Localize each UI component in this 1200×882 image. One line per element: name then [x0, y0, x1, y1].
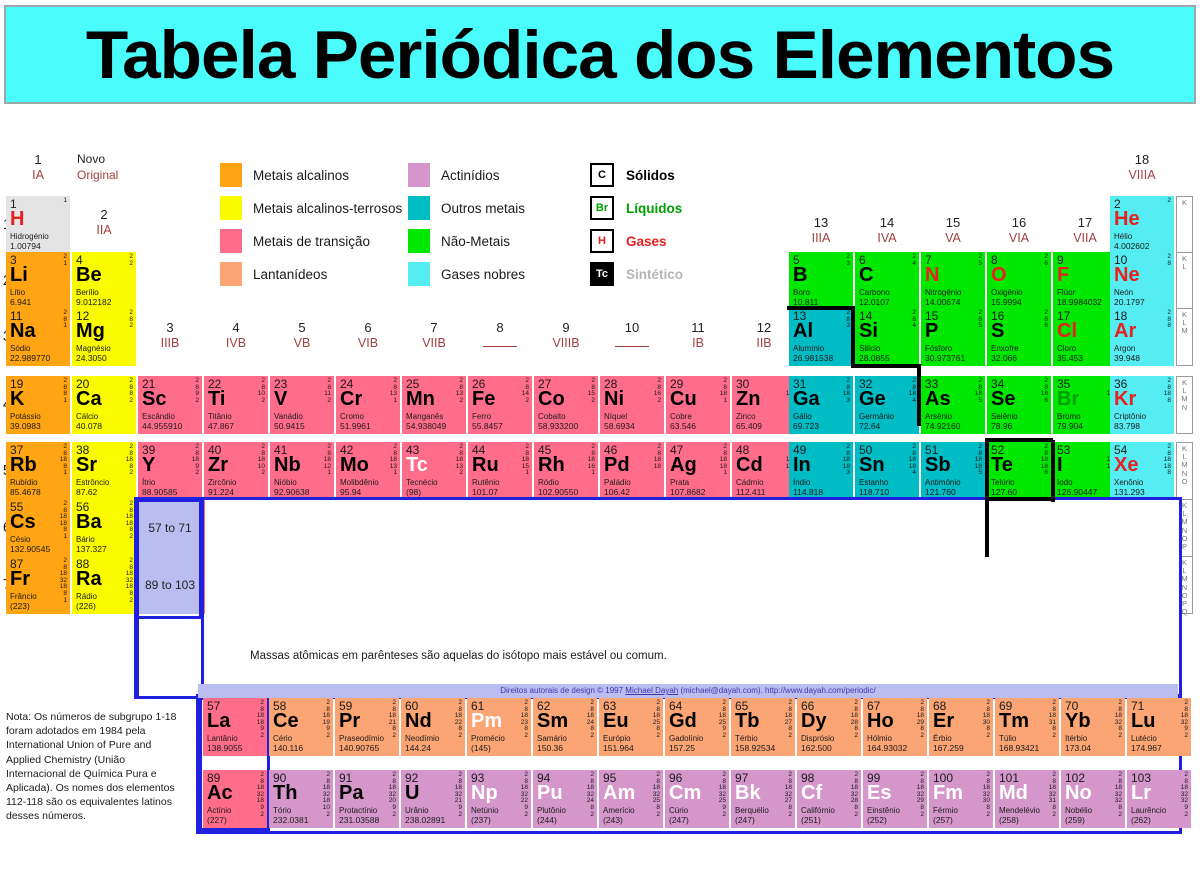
- atomic-mass: 26.981538: [793, 354, 833, 363]
- electron-shells: 2818322482: [587, 772, 594, 818]
- group-number: 8: [468, 320, 532, 336]
- atomic-mass: 106.42: [604, 488, 630, 497]
- atomic-mass: 231.03588: [339, 816, 379, 825]
- electron-shells: 28131: [390, 378, 397, 404]
- element-symbol: Eu: [603, 710, 629, 732]
- element-cell-Sn[interactable]: 502818184SnEstanho118.710: [855, 442, 919, 500]
- electron-shells: 28185: [975, 378, 982, 404]
- electron-shells: 28152: [588, 378, 595, 404]
- element-symbol: Ne: [1114, 264, 1140, 286]
- metalloid-divider: [851, 306, 855, 368]
- element-symbol: Cu: [670, 388, 697, 410]
- actinide-cell-Bk[interactable]: 972818322782BkBerquélio(247): [731, 770, 795, 828]
- element-symbol: Er: [933, 710, 954, 732]
- atomic-mass: 79.904: [1057, 422, 1083, 431]
- element-name: Európio: [603, 734, 631, 743]
- element-cell-Cr[interactable]: 2428131CrCromo51.9961: [336, 376, 400, 434]
- atomic-mass: 30.973761: [925, 354, 965, 363]
- element-name: Frâncio: [10, 592, 37, 601]
- element-cell-H[interactable]: 11HHidrogénio1.00794: [6, 196, 70, 254]
- element-cell-Si[interactable]: 14284SiSilício28.0855: [855, 308, 919, 366]
- actinide-cell-Pa[interactable]: 912818322092PaProtactínio231.03588: [335, 770, 399, 828]
- element-name: Telúrio: [991, 478, 1015, 487]
- element-cell-Ni[interactable]: 2828162NiNíquel58.6934: [600, 376, 664, 434]
- element-symbol: O: [991, 264, 1007, 286]
- atomic-mass: 173.04: [1065, 744, 1091, 753]
- element-symbol: Rb: [10, 454, 37, 476]
- actinide-cell-Cf[interactable]: 982818322882CfCalifórnio(251): [797, 770, 861, 828]
- atomic-mass: (259): [1065, 816, 1085, 825]
- element-cell-In[interactable]: 492818183InÍndio114.818: [789, 442, 853, 500]
- electron-shells: 28183182: [1049, 700, 1056, 740]
- legend-swatch-icon: [220, 262, 242, 286]
- element-cell-Ti[interactable]: 2228102TiTitânio47.867: [204, 376, 268, 434]
- atomic-mass: 50.9415: [274, 422, 305, 431]
- element-symbol: Fm: [933, 782, 963, 804]
- actinide-cell-Fm[interactable]: 1002818323082FmFérmio(257): [929, 770, 993, 828]
- element-cell-Mg[interactable]: 12282MgMagnésio24.3050: [72, 308, 136, 366]
- title-bar: Tabela Periódica dos Elementos: [4, 5, 1196, 104]
- lanthanide-cell-Gd[interactable]: 6428182592GdGadolínio157.25: [665, 698, 729, 756]
- element-name: Túlio: [999, 734, 1016, 743]
- element-cell-Be[interactable]: 422BeBerílio9.012182: [72, 252, 136, 310]
- placeholder-label: 57 to 71: [148, 521, 191, 535]
- atomic-mass: 85.4678: [10, 488, 41, 497]
- actinide-cell-Am[interactable]: 952818322582AmAmerício(243): [599, 770, 663, 828]
- element-symbol: Pd: [604, 454, 630, 476]
- atomic-mass: 12.0107: [859, 298, 890, 307]
- element-name: Carbono: [859, 288, 890, 297]
- element-name: Berquélio: [735, 806, 769, 815]
- atomic-mass: 91.224: [208, 488, 234, 497]
- actinide-cell-Es[interactable]: 992818322982EsEinstênio(252): [863, 770, 927, 828]
- electron-shells: 28181992: [323, 700, 330, 740]
- element-symbol: Pm: [471, 710, 502, 732]
- group-number: 15: [921, 215, 985, 231]
- element-symbol: Pr: [339, 710, 360, 732]
- lanthanide-cell-Ce[interactable]: 5828181992CeCério140.116: [269, 698, 333, 756]
- atomic-mass: 138.9055: [207, 744, 242, 753]
- group-roman: VIB: [336, 336, 400, 352]
- element-symbol: Dy: [801, 710, 827, 732]
- element-symbol: Np: [471, 782, 498, 804]
- atomic-mass: 20.1797: [1114, 298, 1145, 307]
- lanthanide-cell-La[interactable]: 5728181892LaLantânio138.9055: [203, 698, 267, 756]
- element-cell-Kr[interactable]: 3628188KrCriptônio83.798: [1110, 376, 1174, 434]
- element-name: Cúrio: [669, 806, 688, 815]
- element-symbol: Yb: [1065, 710, 1091, 732]
- atomic-mass: (252): [867, 816, 887, 825]
- element-name: Césio: [10, 535, 30, 544]
- element-symbol: No: [1065, 782, 1092, 804]
- group-header-6: 6VIB: [336, 320, 400, 352]
- electron-shells: 28183: [843, 378, 850, 404]
- element-cell-Cu[interactable]: 2928181CuCobre63.546: [666, 376, 730, 434]
- element-symbol: Cf: [801, 782, 822, 804]
- element-name: Índio: [793, 478, 810, 487]
- element-symbol: Nb: [274, 454, 301, 476]
- element-name: Hélio: [1114, 232, 1132, 241]
- lanthanide-cell-Dy[interactable]: 6628182882DyDisprósio162.500: [797, 698, 861, 756]
- element-symbol: Be: [76, 264, 102, 286]
- element-symbol: Lu: [1131, 710, 1155, 732]
- element-cell-Ag[interactable]: 472818181AgPrata107.8682: [666, 442, 730, 500]
- group-roman: VIIIB: [534, 336, 598, 352]
- group-number: 6: [336, 320, 400, 336]
- element-name: Bromo: [1057, 412, 1081, 421]
- element-name: Alumínio: [793, 344, 824, 353]
- legend-item-0: Metais alcalinos: [220, 162, 402, 188]
- element-symbol: Fr: [10, 568, 30, 590]
- element-cell-F[interactable]: 927FFlúor18.9984032: [1053, 252, 1117, 310]
- legend-swatch-icon: [408, 262, 430, 286]
- element-cell-As[interactable]: 3328185AsArsênio74.92160: [921, 376, 985, 434]
- element-cell-Mn[interactable]: 2528132MnManganês54.938049: [402, 376, 466, 434]
- element-symbol: Na: [10, 320, 36, 342]
- element-name: Prata: [670, 478, 689, 487]
- atomic-mass: (251): [801, 816, 821, 825]
- element-symbol: Cs: [10, 511, 36, 533]
- element-symbol: Es: [867, 782, 891, 804]
- element-cell-Sc[interactable]: 212892ScEscândio44.955910: [138, 376, 202, 434]
- legend-column-states: CSólidosBrLíquidosHGasesTcSintético: [590, 162, 683, 294]
- group-roman: IA: [6, 168, 70, 184]
- element-name: Cobre: [670, 412, 692, 421]
- element-cell-Co[interactable]: 2728152CoCobalto58.933200: [534, 376, 598, 434]
- electron-shells: 28183218102: [323, 772, 330, 818]
- element-cell-Na[interactable]: 11281NaSódio22.989770: [6, 308, 70, 366]
- element-cell-Ga[interactable]: 3128183GaGálio69.723: [789, 376, 853, 434]
- element-name: Lantânio: [207, 734, 238, 743]
- element-cell-Y[interactable]: 39281892YÍtrio88.90585: [138, 442, 202, 500]
- element-name: Boro: [793, 288, 810, 297]
- element-cell-Ne[interactable]: 1028NeNeón20.1797: [1110, 252, 1174, 310]
- group-roman: IIB: [732, 336, 796, 352]
- legend-swatch-icon: [408, 229, 430, 253]
- lanthanide-cell-Lu[interactable]: 7128183292LuLutécio174.967: [1127, 698, 1191, 756]
- element-symbol: Mo: [340, 454, 369, 476]
- atomic-mass: 114.818: [793, 488, 823, 497]
- element-name: Samário: [537, 734, 567, 743]
- element-cell-Tc[interactable]: 432818132TcTecnécio(98): [402, 442, 466, 500]
- electron-shells: 286: [1044, 310, 1048, 330]
- electron-shells: 28182592: [719, 700, 726, 740]
- lanthanide-cell-Eu[interactable]: 6328182582EuEurópio151.964: [599, 698, 663, 756]
- electron-shells: 282: [129, 310, 133, 330]
- lanthanide-cell-Tm[interactable]: 6928183182TmTúlio168.93421: [995, 698, 1059, 756]
- element-cell-Br[interactable]: 3528187BrBromo79.904: [1053, 376, 1117, 434]
- element-cell-Ba[interactable]: 5628181882BaBário137.327: [72, 499, 136, 557]
- element-name: Neón: [1114, 288, 1133, 297]
- element-name: Itérbio: [1065, 734, 1087, 743]
- atomic-mass: 1.00794: [10, 242, 41, 251]
- atomic-mass: 140.90765: [339, 744, 379, 753]
- actinide-cell-Th[interactable]: 9028183218102ThTório232.0381: [269, 770, 333, 828]
- element-name: Térbio: [735, 734, 758, 743]
- group-header-3: 3IIIB: [138, 320, 202, 352]
- element-cell-Ge[interactable]: 3228184GeGermânio72.64: [855, 376, 919, 434]
- element-cell-He[interactable]: 22HeHélio4.002602: [1110, 196, 1174, 254]
- element-cell-Cl[interactable]: 17287ClCloro35.453: [1053, 308, 1117, 366]
- atomic-mass: 107.8682: [670, 488, 705, 497]
- placeholder-lanthanides[interactable]: 57 to 71: [138, 499, 202, 557]
- atomic-mass: (223): [10, 602, 30, 611]
- group-number: 10: [600, 320, 664, 336]
- element-symbol: Cd: [736, 454, 763, 476]
- legend-item-2: Metais de transição: [220, 228, 402, 254]
- element-name: Promécio: [471, 734, 505, 743]
- element-name: Ítrio: [142, 478, 155, 487]
- atomic-mass: 6.941: [10, 298, 31, 307]
- element-cell-Nb[interactable]: 412818121NbNióbio92.90638: [270, 442, 334, 500]
- atomic-mass: 164.93032: [867, 744, 907, 753]
- atomic-mass: 88.90585: [142, 488, 177, 497]
- actinide-cell-Np[interactable]: 932818322292NpNetúnio(237): [467, 770, 531, 828]
- electron-shells: 2818323282: [1115, 772, 1122, 818]
- atomic-mass: (243): [603, 816, 623, 825]
- atomic-mass: 39.948: [1114, 354, 1140, 363]
- element-symbol: Al: [793, 320, 813, 342]
- atomic-mass: 32.066: [991, 354, 1017, 363]
- element-cell-Li[interactable]: 321LiLítio6.941: [6, 252, 70, 310]
- element-name: Zircônio: [208, 478, 236, 487]
- element-name: Cádmio: [736, 478, 764, 487]
- atomic-mass: (237): [471, 816, 491, 825]
- element-symbol: Sb: [925, 454, 951, 476]
- metalloid-divider: [851, 364, 917, 368]
- element-cell-Ar[interactable]: 18288ArArgon39.948: [1110, 308, 1174, 366]
- lanthanide-cell-Tb[interactable]: 6528182782TbTérbio158.92534: [731, 698, 795, 756]
- legend-state-label: Sólidos: [626, 168, 675, 183]
- element-symbol: U: [405, 782, 419, 804]
- electron-shells: 28186: [1041, 378, 1048, 404]
- group-header-4: 4IVB: [204, 320, 268, 352]
- element-cell-K[interactable]: 192881KPotássio39.0983: [6, 376, 70, 434]
- element-symbol: N: [925, 264, 939, 286]
- element-name: Ródio: [538, 478, 559, 487]
- element-cell-N[interactable]: 725NNitrogênio14.00674: [921, 252, 985, 310]
- group-roman: [468, 336, 532, 352]
- element-name: Gadolínio: [669, 734, 703, 743]
- element-symbol: La: [207, 710, 230, 732]
- element-name: Lutécio: [1131, 734, 1157, 743]
- element-name: Fósforo: [925, 344, 952, 353]
- electron-shells: 2818322982: [917, 772, 924, 818]
- electron-shells: 2818132: [456, 444, 463, 477]
- element-cell-Fe[interactable]: 2628142FeFerro55.8457: [468, 376, 532, 434]
- element-name: Tecnécio: [406, 478, 438, 487]
- atomic-mass: 157.25: [669, 744, 695, 753]
- element-cell-Sb[interactable]: 512818185SbAntimônio121.760: [921, 442, 985, 500]
- group-roman: IIIB: [138, 336, 202, 352]
- group-roman: VB: [270, 336, 334, 352]
- element-name: Hidrogénio: [10, 232, 49, 241]
- element-name: Paládio: [604, 478, 631, 487]
- actinide-cell-Pu[interactable]: 942818322482PuPlutônio(244): [533, 770, 597, 828]
- electron-shells: 281818: [654, 444, 661, 470]
- lanthanide-cell-Yb[interactable]: 7028183282YbItérbio173.04: [1061, 698, 1125, 756]
- group-number: 16: [987, 215, 1051, 231]
- atomic-mass: 95.94: [340, 488, 361, 497]
- element-name: Zinco: [736, 412, 756, 421]
- element-symbol: Li: [10, 264, 28, 286]
- element-cell-V[interactable]: 2328112VVanádio50.9415: [270, 376, 334, 434]
- legend-swatch-icon: [220, 163, 242, 187]
- metalloid-divider: [787, 306, 853, 310]
- legend-state-symbol-icon: Br: [590, 196, 614, 220]
- element-cell-Zn[interactable]: 3028182ZnZinco65.409: [732, 376, 796, 434]
- legend-column-categories-1: Metais alcalinosMetais alcalinos-terroso…: [220, 162, 402, 294]
- atomic-mass: 72.64: [859, 422, 880, 431]
- legend-state-label: Gases: [626, 234, 667, 249]
- copyright-link[interactable]: Michael Dayah: [625, 686, 678, 695]
- lanthanide-cell-Pm[interactable]: 6128182382PmPromécio(145): [467, 698, 531, 756]
- element-symbol: F: [1057, 264, 1069, 286]
- atomic-mass: (247): [669, 816, 689, 825]
- element-cell-Cd[interactable]: 482818182CdCádmio112.411: [732, 442, 796, 500]
- electron-shells: 2818183: [843, 444, 850, 477]
- legend-column-categories-2: ActinídiosOutros metaisNão-MetaisGases n…: [408, 162, 525, 294]
- lanthanide-cell-Er[interactable]: 6828183082ErÉrbio167.259: [929, 698, 993, 756]
- lanthanide-cell-Nd[interactable]: 6028182282NdNeodímio144.24: [401, 698, 465, 756]
- electron-shells: 2882: [129, 378, 133, 404]
- electron-shells: 28183082: [983, 700, 990, 740]
- electron-shells: 2818321881: [60, 558, 67, 604]
- actinide-cell-Cm[interactable]: 962818322592CmCúrio(247): [665, 770, 729, 828]
- element-cell-S[interactable]: 16286SEnxofre32.066: [987, 308, 1051, 366]
- group-roman: VA: [921, 231, 985, 247]
- group-header-5: 5VB: [270, 320, 334, 352]
- element-cell-C[interactable]: 624CCarbono12.0107: [855, 252, 919, 310]
- actinide-cell-Lr[interactable]: 1032818323292LrLaurêncio(262): [1127, 770, 1191, 828]
- actinide-cell-No[interactable]: 1022818323282NoNobélio(259): [1061, 770, 1125, 828]
- element-cell-Xe[interactable]: 542818188XeXenônio131.293: [1110, 442, 1174, 500]
- element-symbol: Ti: [208, 388, 225, 410]
- legend-label: Gases nobres: [441, 267, 525, 282]
- element-name: Rádio: [76, 592, 97, 601]
- element-cell-P[interactable]: 15285PFósforo30.973761: [921, 308, 985, 366]
- element-symbol: Ca: [76, 388, 102, 410]
- actinide-cell-Md[interactable]: 1012818323182MdMendelévio(258): [995, 770, 1059, 828]
- element-cell-Zr[interactable]: 402818102ZrZircônio91.224: [204, 442, 268, 500]
- element-cell-Al[interactable]: 13283AlAlumínio26.981538: [789, 308, 853, 366]
- element-symbol: Se: [991, 388, 1015, 410]
- element-name: Amerício: [603, 806, 635, 815]
- placeholder-actinides[interactable]: 89 to 103: [138, 556, 202, 614]
- element-cell-Ru[interactable]: 442818151RuRutênio101.07: [468, 442, 532, 500]
- electron-shells: 2818323082: [983, 772, 990, 818]
- group-number: 7: [402, 320, 466, 336]
- group-number: 12: [732, 320, 796, 336]
- legend-label: Metais alcalinos: [253, 168, 349, 183]
- actinide-cell-U[interactable]: 922818322192UUrânio238.02891: [401, 770, 465, 828]
- element-cell-Fr[interactable]: 872818321881FrFrâncio(223): [6, 556, 70, 614]
- electron-shells: 28183292: [1181, 700, 1188, 740]
- group-roman: VIIB: [402, 336, 466, 352]
- group-number: 11: [666, 320, 730, 336]
- group-number: 5: [270, 320, 334, 336]
- electron-shells: 28182382: [521, 700, 528, 740]
- element-name: Silício: [859, 344, 880, 353]
- electron-shells: 283: [846, 310, 850, 330]
- atomic-mass: (244): [537, 816, 557, 825]
- element-name: Nitrogênio: [925, 288, 961, 297]
- atomic-mass: 22.989770: [10, 354, 50, 363]
- lanthanide-cell-Pr[interactable]: 5928182182PrPraseodímio140.90765: [335, 698, 399, 756]
- element-symbol: Pu: [537, 782, 563, 804]
- group-roman: VIIA: [1053, 231, 1117, 247]
- new-label: Novo: [77, 152, 118, 168]
- element-cell-Ca[interactable]: 202882CaCálcio40.078: [72, 376, 136, 434]
- atomic-mass: 69.723: [793, 422, 819, 431]
- element-cell-Mo[interactable]: 422818131MoMolibdênio95.94: [336, 442, 400, 500]
- element-name: Laurêncio: [1131, 806, 1166, 815]
- electron-shells: 28182582: [653, 700, 660, 740]
- atomic-mass: 174.967: [1131, 744, 1162, 753]
- group-header-18: 18VIIIA: [1110, 152, 1174, 184]
- atomic-mass: (247): [735, 816, 755, 825]
- placeholder-label: 89 to 103: [145, 578, 195, 592]
- electron-shells: 28182982: [917, 700, 924, 740]
- lanthanide-cell-Sm[interactable]: 6228182482SmSamário150.36: [533, 698, 597, 756]
- group-number: 17: [1053, 215, 1117, 231]
- actinide-cell-Ac[interactable]: 892818321892AcActínio(227): [203, 770, 267, 828]
- element-cell-Sr[interactable]: 38281882SrEstrôncio87.62: [72, 442, 136, 500]
- atomic-mass: 144.24: [405, 744, 431, 753]
- element-cell-Cs[interactable]: 5528181881CsCésio132.90545: [6, 499, 70, 557]
- atomic-mass: (145): [471, 744, 491, 753]
- electron-shells: 28132: [456, 378, 463, 404]
- lanthanide-cell-Ho[interactable]: 6728182982HoHólmio164.93032: [863, 698, 927, 756]
- element-cell-Rh[interactable]: 452818161RhRódio102.90550: [534, 442, 598, 500]
- electron-shells: 28: [1167, 254, 1171, 267]
- element-symbol: Bk: [735, 782, 761, 804]
- element-symbol: Pa: [339, 782, 363, 804]
- element-name: Xenônio: [1114, 478, 1143, 487]
- element-cell-B[interactable]: 523BBoro10.811: [789, 252, 853, 310]
- element-cell-Se[interactable]: 3428186SeSelênio78.96: [987, 376, 1051, 434]
- atomic-mass: 162.500: [801, 744, 832, 753]
- legend-state-1: BrLíquidos: [590, 195, 683, 221]
- element-symbol: Sc: [142, 388, 166, 410]
- element-symbol: Tb: [735, 710, 759, 732]
- element-symbol: Zn: [736, 388, 760, 410]
- electron-shells: 21: [63, 254, 67, 267]
- legend-swatch-icon: [220, 229, 242, 253]
- element-symbol: I: [1057, 454, 1063, 476]
- element-cell-I[interactable]: 532818187IIodo126.90447: [1053, 442, 1117, 500]
- element-cell-Te[interactable]: 522818186TeTelúrio127.60: [987, 442, 1051, 500]
- electron-shells: 2818185: [975, 444, 982, 477]
- element-name: Cloro: [1057, 344, 1076, 353]
- shell-label-5: KLMNO: [1176, 442, 1193, 500]
- element-cell-Pd[interactable]: 46281818PdPaládio106.42: [600, 442, 664, 500]
- element-symbol: Te: [991, 454, 1013, 476]
- electron-shells: 288: [1167, 310, 1171, 330]
- element-cell-Rb[interactable]: 37281881RbRubídio85.4678: [6, 442, 70, 500]
- atomic-mass: 54.938049: [406, 422, 446, 431]
- group-header-16: 16VIA: [987, 215, 1051, 247]
- element-symbol: Rh: [538, 454, 565, 476]
- element-cell-O[interactable]: 826OOxigênio15.9994: [987, 252, 1051, 310]
- atomic-mass: 47.867: [208, 422, 234, 431]
- element-symbol: Ac: [207, 782, 233, 804]
- element-symbol: Ho: [867, 710, 894, 732]
- element-cell-Ra[interactable]: 882818321882RaRádio(226): [72, 556, 136, 614]
- element-name: Rubídio: [10, 478, 38, 487]
- element-name: Protactínio: [339, 806, 377, 815]
- element-name: Netúnio: [471, 806, 499, 815]
